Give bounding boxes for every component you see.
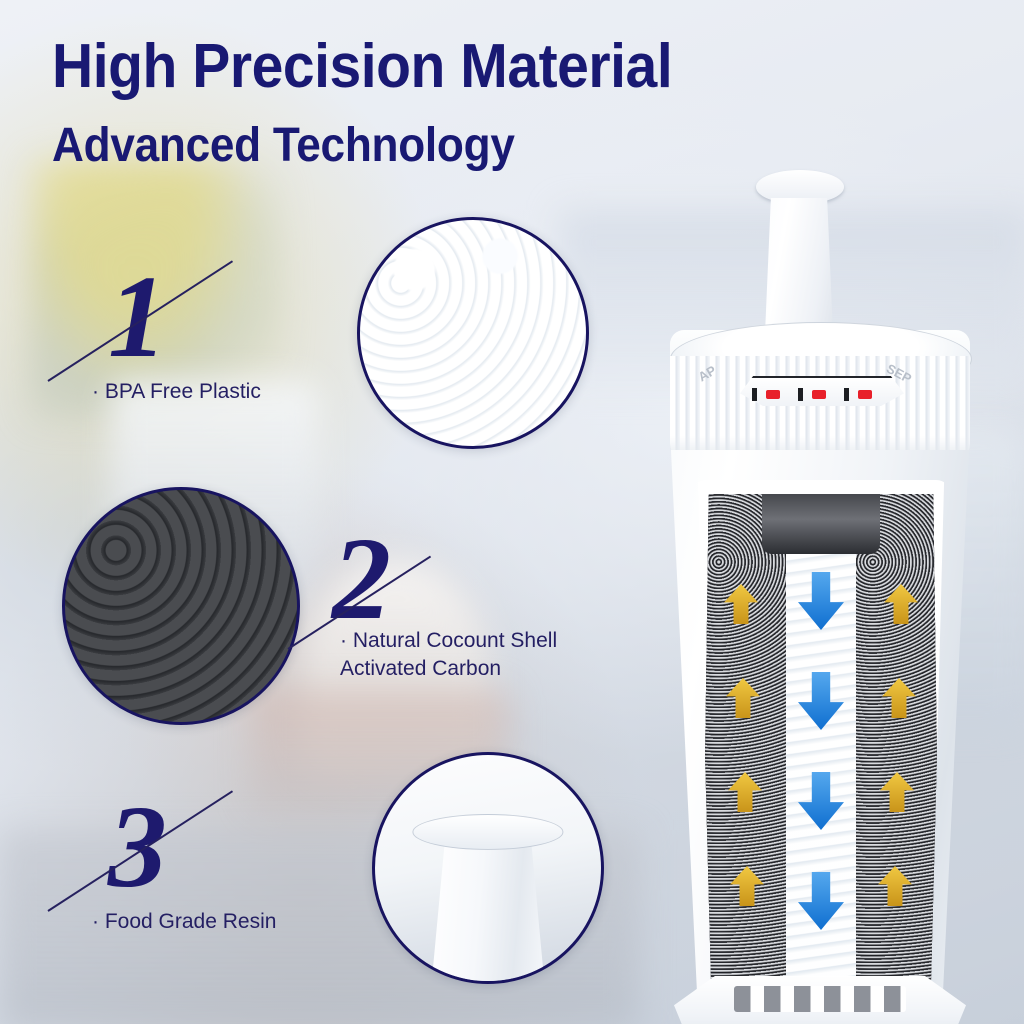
resin-spout-photo — [372, 752, 604, 984]
dial-tick-2 — [798, 388, 803, 401]
activated-carbon-pellets-photo — [62, 487, 300, 725]
page-subtitle: Advanced Technology — [52, 122, 515, 170]
feature-1-label: · BPA Free Plastic — [92, 378, 261, 406]
feature-1-numeral: 1 — [108, 258, 167, 376]
dial-red-marker-1 — [766, 390, 780, 399]
dial-red-marker-3 — [858, 390, 872, 399]
dial-red-marker-2 — [812, 390, 826, 399]
carbon-bed-left — [702, 494, 786, 980]
filter-base-slots — [734, 986, 906, 1012]
dial-tick-3 — [844, 388, 849, 401]
carbon-bed-right — [856, 494, 940, 980]
feature-2-label: · Natural Cocount Shell Activated Carbon — [340, 627, 557, 684]
resin-spout-body — [429, 832, 547, 984]
feature-2-numeral: 2 — [332, 520, 391, 638]
clear-plastic-beads-photo — [357, 217, 589, 449]
filter-cutaway-window — [690, 480, 952, 980]
water-filter-cartridge-cutaway: AP SEP — [640, 150, 1024, 1024]
infographic-canvas: High Precision Material Advanced Technol… — [0, 0, 1024, 1024]
dial-tick-1 — [752, 388, 757, 401]
feature-3-numeral: 3 — [108, 788, 167, 906]
page-title: High Precision Material — [52, 36, 672, 98]
channel-top-cap — [762, 494, 880, 554]
resin-spout-cap — [412, 814, 563, 850]
feature-3-label: · Food Grade Resin — [92, 908, 276, 936]
